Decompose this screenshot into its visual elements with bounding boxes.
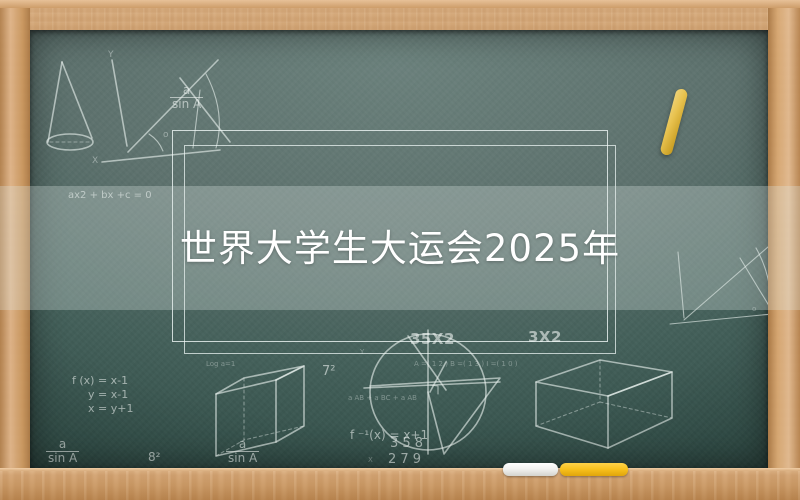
- screenshot-root: ax2 + bx +c = 0 a sin A Y X o o f (x) = …: [0, 0, 800, 500]
- white-chalk-stick: [503, 463, 558, 476]
- ledge-top-lip: [0, 468, 800, 471]
- ledge-wood-grain: [0, 468, 800, 500]
- frame-top-bevel: [0, 0, 800, 8]
- yellow-chalk-stick: [560, 463, 628, 476]
- chalk-tray-ledge: [0, 468, 800, 500]
- page-title: 世界大学生大运会2025年: [0, 226, 800, 272]
